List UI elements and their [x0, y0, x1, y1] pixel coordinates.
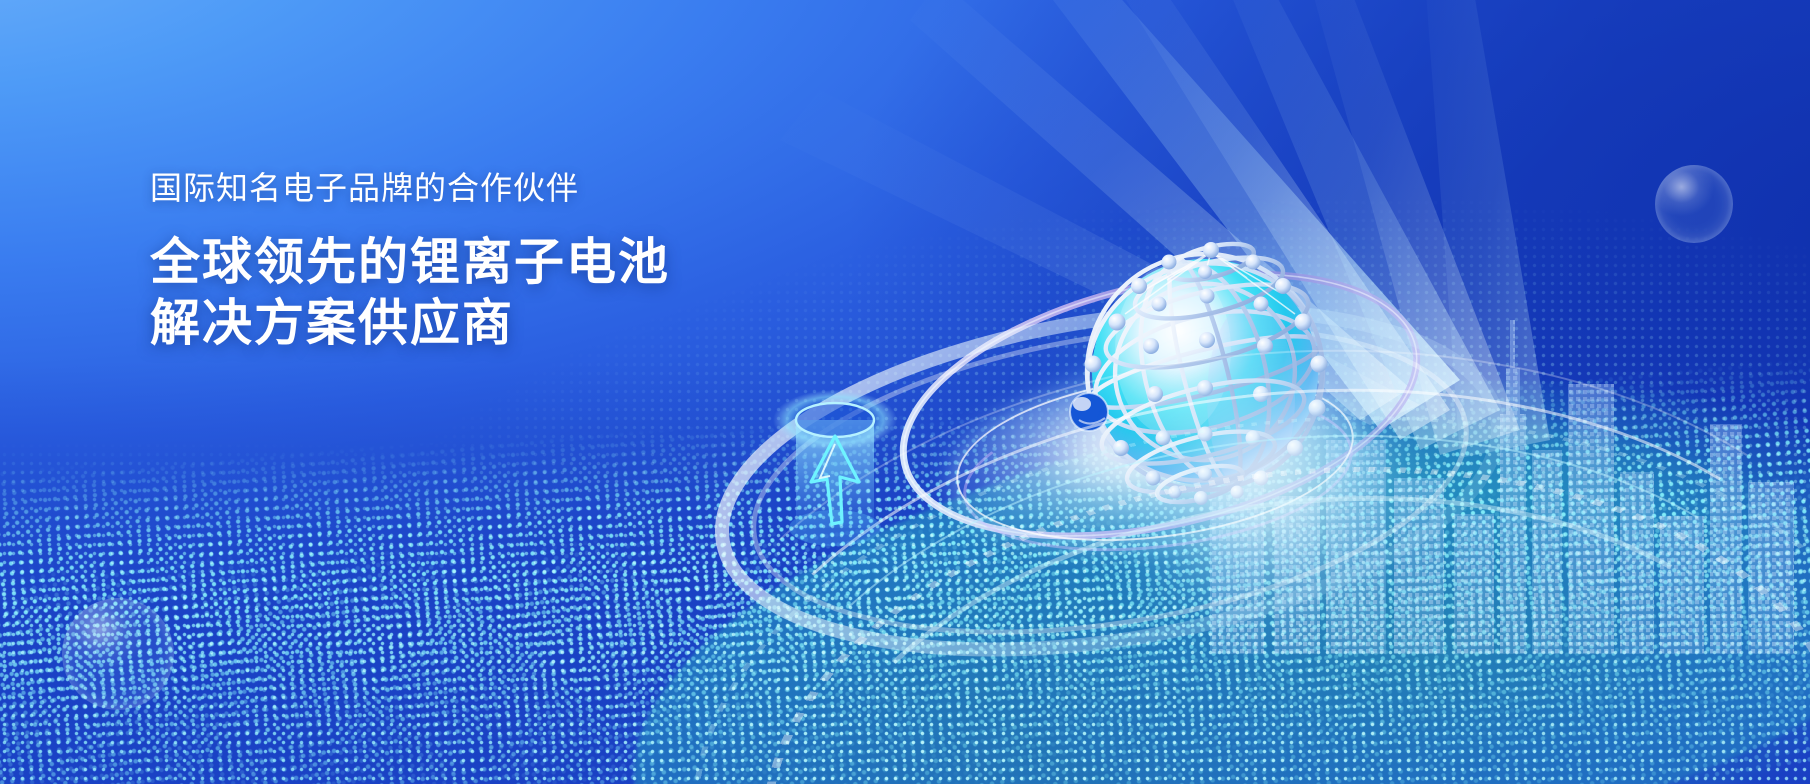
banner-copy: 国际知名电子品牌的合作伙伴 全球领先的锂离子电池 解决方案供应商 — [150, 172, 910, 354]
hero-banner: 国际知名电子品牌的合作伙伴 全球领先的锂离子电池 解决方案供应商 — [0, 0, 1810, 784]
headline-line-2: 解决方案供应商 — [150, 293, 910, 354]
wireframe-globe-icon — [1055, 222, 1355, 522]
headline-line-1: 全球领先的锂离子电池 — [150, 234, 670, 290]
bubble-icon — [1655, 165, 1733, 243]
bubble-icon — [62, 598, 174, 710]
cursor-arrow-icon — [770, 378, 900, 548]
banner-eyebrow: 国际知名电子品牌的合作伙伴 — [150, 172, 910, 204]
banner-headline: 全球领先的锂离子电池 解决方案供应商 — [150, 232, 910, 354]
